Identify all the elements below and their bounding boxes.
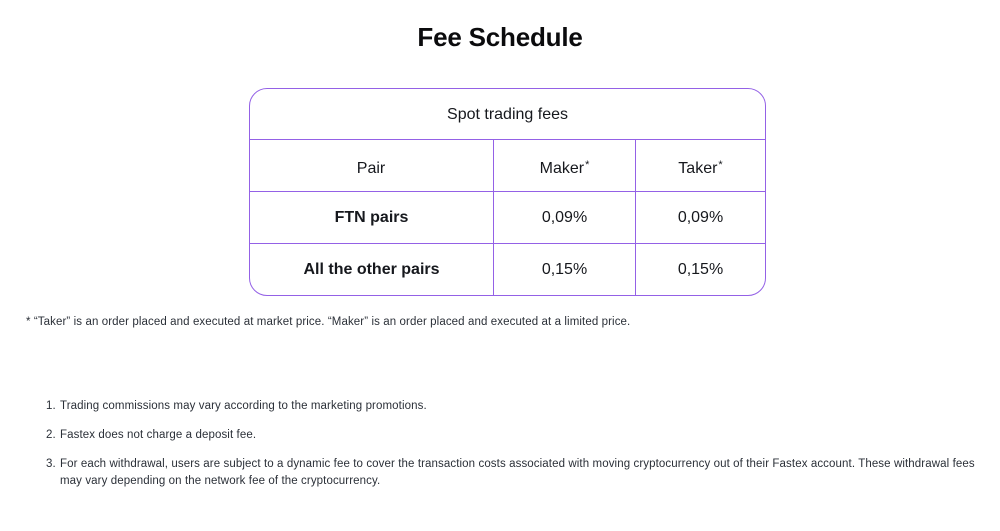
- column-header-pair-label: Pair: [357, 160, 385, 177]
- cell-maker: 0,09%: [494, 192, 636, 243]
- column-header-taker: Taker*: [636, 140, 765, 191]
- list-item: 1. Trading commissions may vary accordin…: [46, 398, 986, 415]
- list-item: 2. Fastex does not charge a deposit fee.: [46, 427, 986, 444]
- list-item-number: 1.: [46, 398, 60, 415]
- table-footnote: * “Taker” is an order placed and execute…: [26, 314, 630, 330]
- list-item-text: Trading commissions may vary according t…: [60, 398, 986, 415]
- cell-pair: All the other pairs: [250, 244, 494, 295]
- cell-pair: FTN pairs: [250, 192, 494, 243]
- column-header-taker-label: Taker: [678, 160, 717, 177]
- list-item: 3. For each withdrawal, users are subjec…: [46, 456, 986, 490]
- table-caption: Spot trading fees: [250, 89, 765, 140]
- list-item-text: Fastex does not charge a deposit fee.: [60, 427, 986, 444]
- cell-taker: 0,09%: [636, 192, 765, 243]
- column-header-maker: Maker*: [494, 140, 636, 191]
- table-row: All the other pairs 0,15% 0,15%: [250, 244, 765, 295]
- cell-taker: 0,15%: [636, 244, 765, 295]
- column-header-maker-star: *: [585, 159, 589, 171]
- cell-maker: 0,15%: [494, 244, 636, 295]
- spot-trading-fees-table: Spot trading fees Pair Maker* Taker* FTN…: [249, 88, 766, 296]
- table-header-row: Pair Maker* Taker*: [250, 140, 765, 192]
- notes-list: 1. Trading commissions may vary accordin…: [46, 398, 986, 502]
- column-header-pair: Pair: [250, 140, 494, 191]
- column-header-maker-label: Maker: [540, 160, 584, 177]
- table-row: FTN pairs 0,09% 0,09%: [250, 192, 765, 244]
- column-header-taker-star: *: [718, 159, 722, 171]
- list-item-text: For each withdrawal, users are subject t…: [60, 456, 986, 490]
- list-item-number: 2.: [46, 427, 60, 444]
- list-item-number: 3.: [46, 456, 60, 490]
- page-title: Fee Schedule: [0, 22, 1000, 53]
